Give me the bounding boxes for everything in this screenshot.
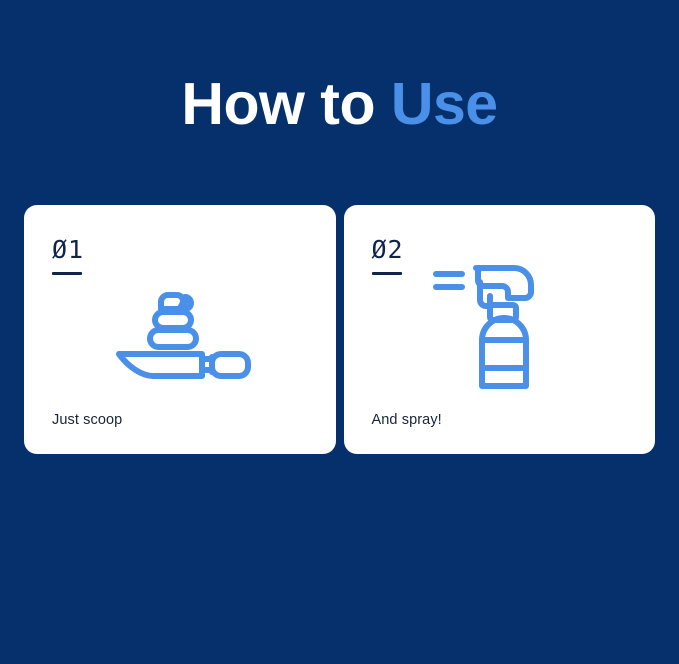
page-title: How to Use — [0, 64, 679, 144]
scoop-trowel-icon — [24, 253, 336, 413]
how-to-use-steps: Ø1 Just scoop — [24, 205, 655, 454]
step-caption-2: And spray! — [372, 410, 442, 430]
step-caption-1: Just scoop — [52, 410, 122, 430]
spray-bottle-icon — [344, 253, 656, 413]
step-card-2[interactable]: Ø2 And spray! — [344, 205, 656, 454]
page-title-accent: Use — [391, 71, 498, 137]
page-title-primary: How to — [181, 71, 391, 137]
step-card-1[interactable]: Ø1 Just scoop — [24, 205, 336, 454]
